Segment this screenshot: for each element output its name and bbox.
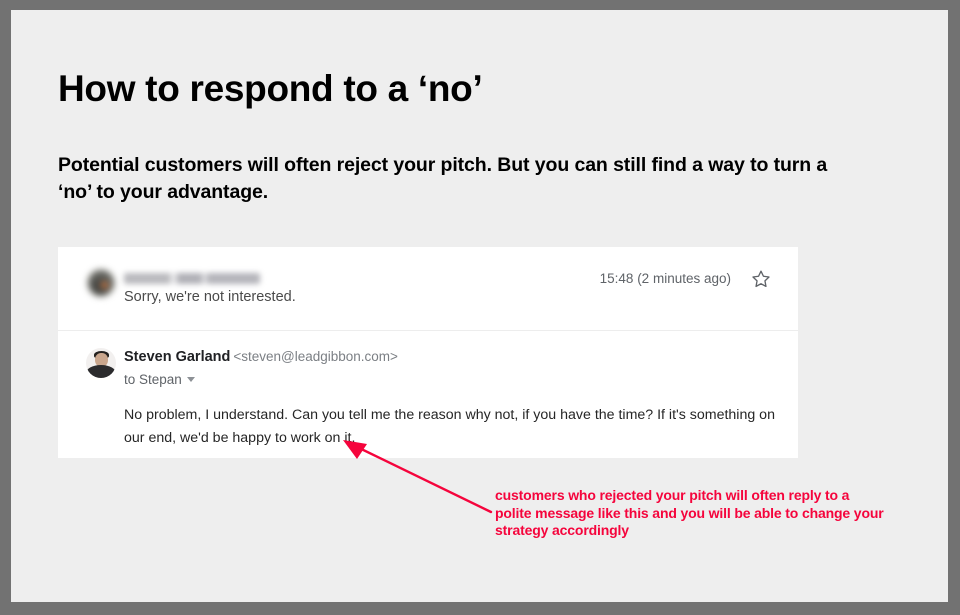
page-title: How to respond to a ‘no’ — [58, 68, 482, 110]
reply-body-text: No problem, I understand. Can you tell m… — [124, 404, 776, 450]
page-subtitle: Potential customers will often reject yo… — [58, 152, 858, 206]
sender-name-redacted — [124, 273, 260, 284]
avatar-quoted-icon — [86, 268, 116, 298]
reply-recipient-label: to Stepan — [124, 372, 182, 387]
reply-sender-email: <steven@leadgibbon.com> — [233, 349, 398, 364]
email-message-reply: Steven Garland<steven@leadgibbon.com> to… — [58, 331, 798, 450]
star-icon[interactable] — [751, 269, 771, 289]
reply-sender-name: Steven Garland — [124, 349, 230, 365]
reply-header: Steven Garland<steven@leadgibbon.com> — [124, 347, 798, 367]
email-message-quoted[interactable]: Sorry, we're not interested. 15:48 (2 mi… — [58, 247, 798, 331]
message-snippet: Sorry, we're not interested. — [124, 289, 296, 305]
email-thread-card: Sorry, we're not interested. 15:48 (2 mi… — [58, 247, 798, 458]
screenshot-frame: How to respond to a ‘no’ Potential custo… — [0, 0, 960, 615]
message-timestamp: 15:48 (2 minutes ago) — [600, 271, 731, 286]
chevron-down-icon[interactable] — [187, 377, 195, 382]
slide-canvas: How to respond to a ‘no’ Potential custo… — [11, 10, 948, 602]
avatar-body — [86, 365, 116, 378]
annotation-text: customers who rejected your pitch will o… — [495, 487, 885, 540]
reply-recipient-row[interactable]: to Stepan — [124, 372, 798, 387]
avatar-photo-icon — [86, 348, 116, 378]
